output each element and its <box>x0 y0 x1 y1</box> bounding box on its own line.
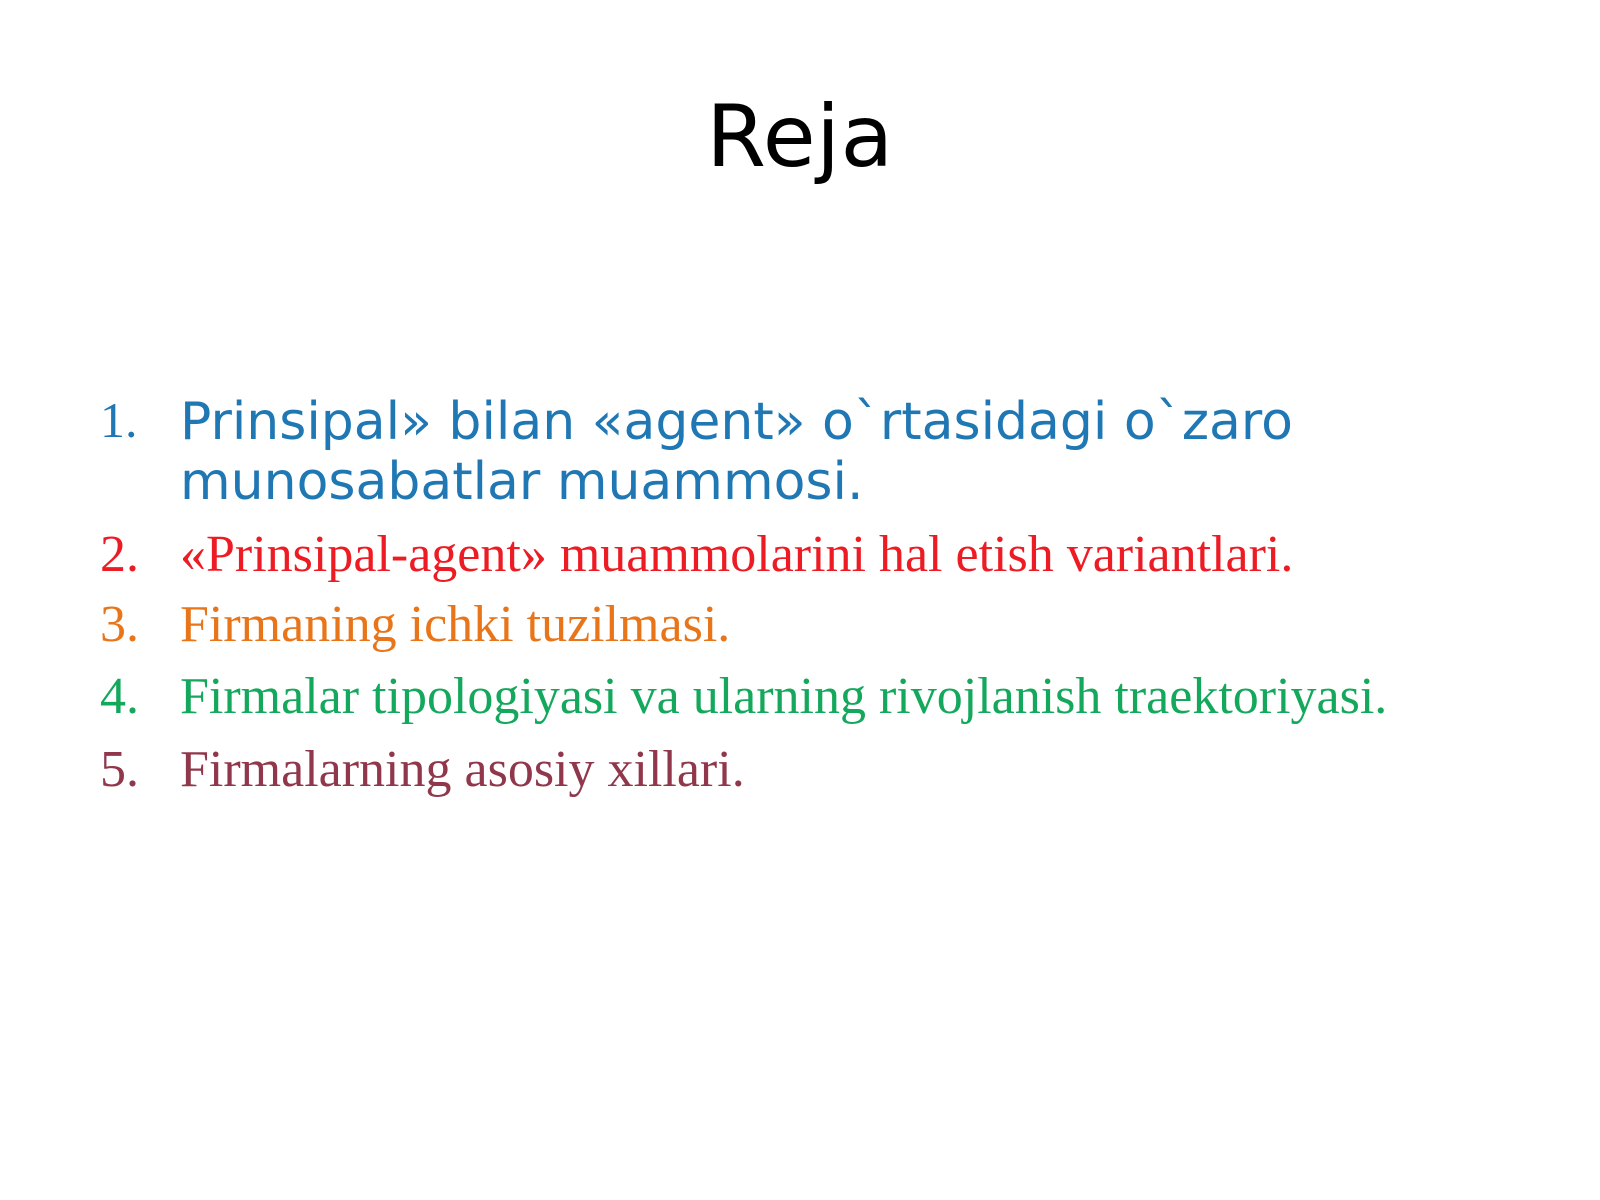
list-item: 1. Prinsipal» bilan «agent» o`rtasidagi … <box>96 392 1496 513</box>
list-item-number: 5. <box>96 740 180 800</box>
list-item-number: 3. <box>96 595 180 655</box>
list-item-text: Prinsipal» bilan «agent» o`rtasidagi o`z… <box>180 392 1496 513</box>
list-item-number: 4. <box>96 667 180 727</box>
agenda-list: 1. Prinsipal» bilan «agent» o`rtasidagi … <box>96 392 1496 800</box>
list-item-text: Firmaning ichki tuzilmasi. <box>180 595 1496 655</box>
list-item-text: Firmalarning asosiy xillari. <box>180 740 1496 800</box>
list-item: 5. Firmalarning asosiy xillari. <box>96 740 1496 800</box>
list-item-number: 2. <box>96 525 180 585</box>
list-item-text: «Prinsipal-agent» muammolarini hal etish… <box>180 525 1496 585</box>
list-item-number: 1. <box>96 392 180 450</box>
list-item: 4. Firmalar tipologiyasi va ularning riv… <box>96 667 1496 727</box>
list-item: 2. «Prinsipal-agent» muammolarini hal et… <box>96 525 1496 585</box>
list-item-text: Firmalar tipologiyasi va ularning rivojl… <box>180 667 1496 727</box>
page-title: Reja <box>0 92 1600 182</box>
presentation-slide: Reja 1. Prinsipal» bilan «agent» o`rtasi… <box>0 0 1600 1200</box>
list-item: 3. Firmaning ichki tuzilmasi. <box>96 595 1496 655</box>
